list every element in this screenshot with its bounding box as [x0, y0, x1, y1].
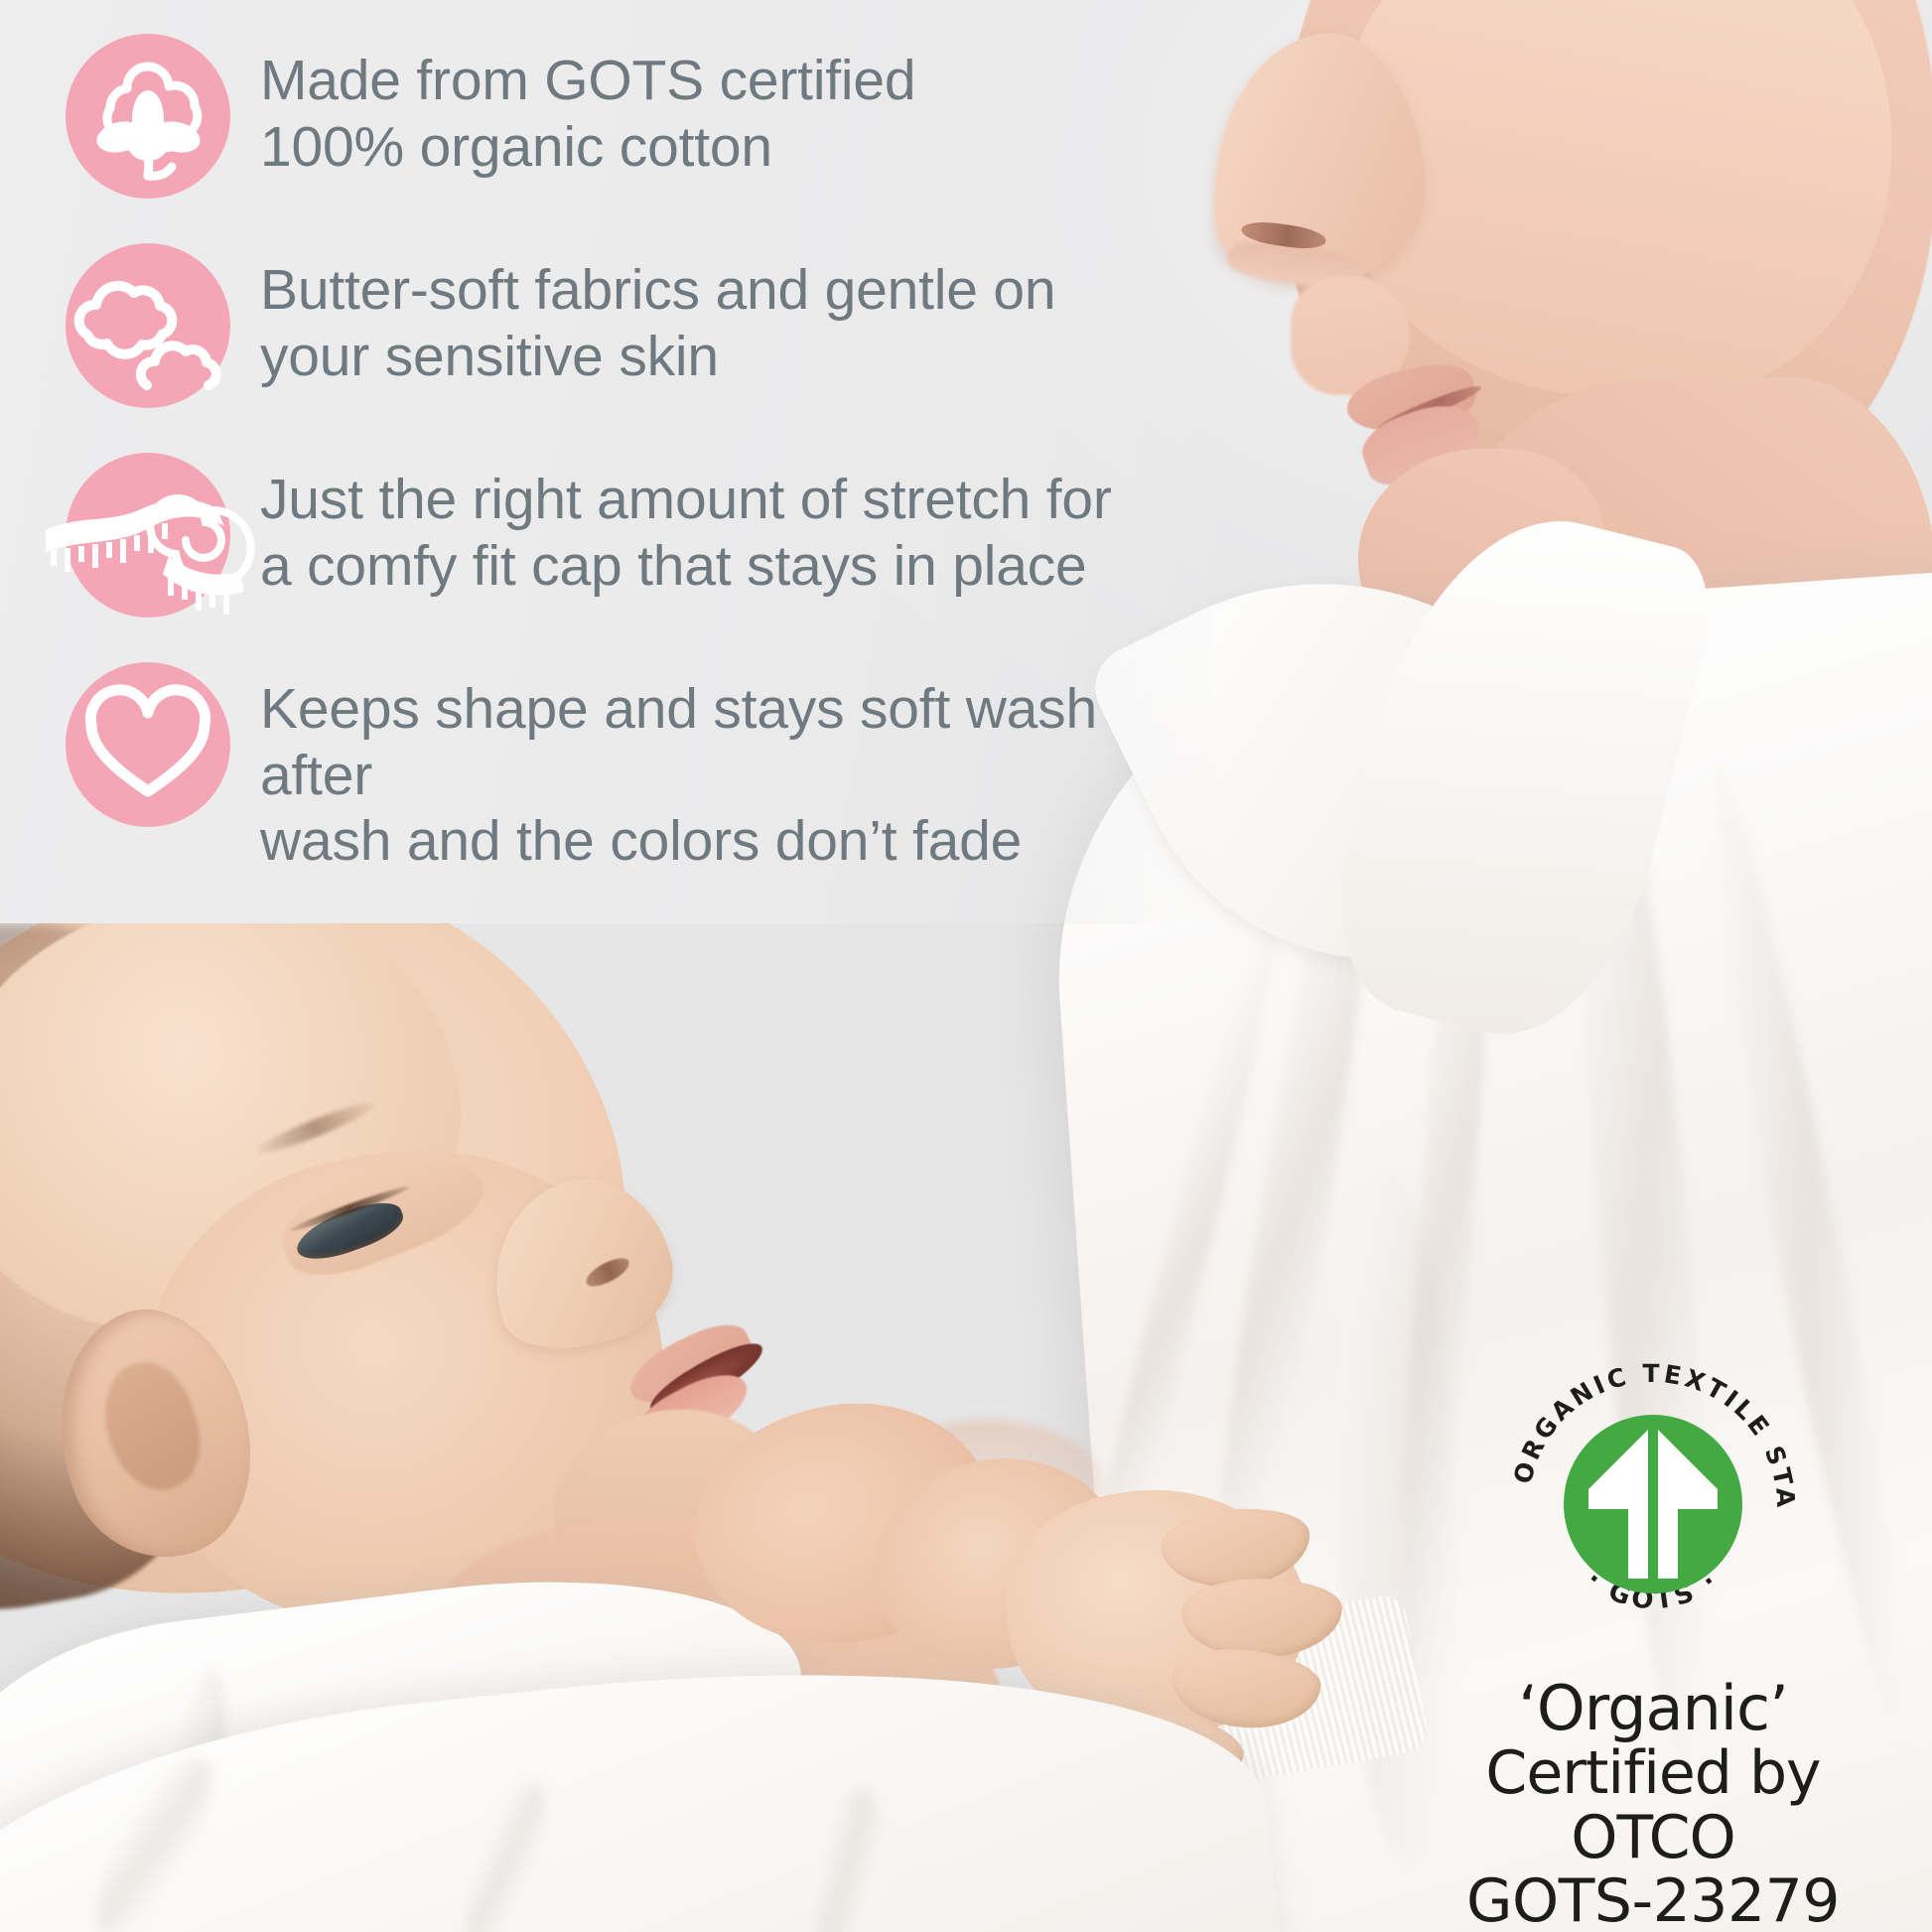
feature-item-organic-cotton: Made from GOTS certified 100% organic co… — [0, 34, 1211, 199]
gots-seal: GLOBAL ORGANIC TEXTILE STANDARD · GOTS · — [1489, 1342, 1817, 1670]
heart-icon — [66, 662, 230, 827]
gots-caption: ‘Organic’ Certified by OTCO GOTS-23279 — [1420, 1676, 1886, 1932]
cotton-boll-icon — [66, 34, 230, 199]
gots-license-number: GOTS-23279 — [1420, 1869, 1886, 1932]
feature-text: Made from GOTS certified 100% organic co… — [260, 34, 915, 180]
feature-text: Just the right amount of stretch for a c… — [260, 453, 1112, 599]
feature-item-stretch-fit: Just the right amount of stretch for a c… — [0, 453, 1211, 618]
feature-item-keeps-shape: Keeps shape and stays soft wash after wa… — [0, 662, 1211, 875]
feature-text: Keeps shape and stays soft wash after wa… — [260, 662, 1211, 875]
gots-organic-label: ‘Organic’ — [1420, 1676, 1886, 1741]
feature-list: Made from GOTS certified 100% organic co… — [0, 0, 1211, 919]
measuring-tape-icon — [66, 453, 230, 618]
clouds-icon — [66, 243, 230, 408]
gots-certification-block: GLOBAL ORGANIC TEXTILE STANDARD · GOTS ·… — [1420, 1342, 1886, 1932]
gots-certifier: Certified by OTCO — [1420, 1741, 1886, 1868]
feature-text: Butter-soft fabrics and gentle on your s… — [260, 243, 1055, 389]
feature-item-soft-fabric: Butter-soft fabrics and gentle on your s… — [0, 243, 1211, 408]
